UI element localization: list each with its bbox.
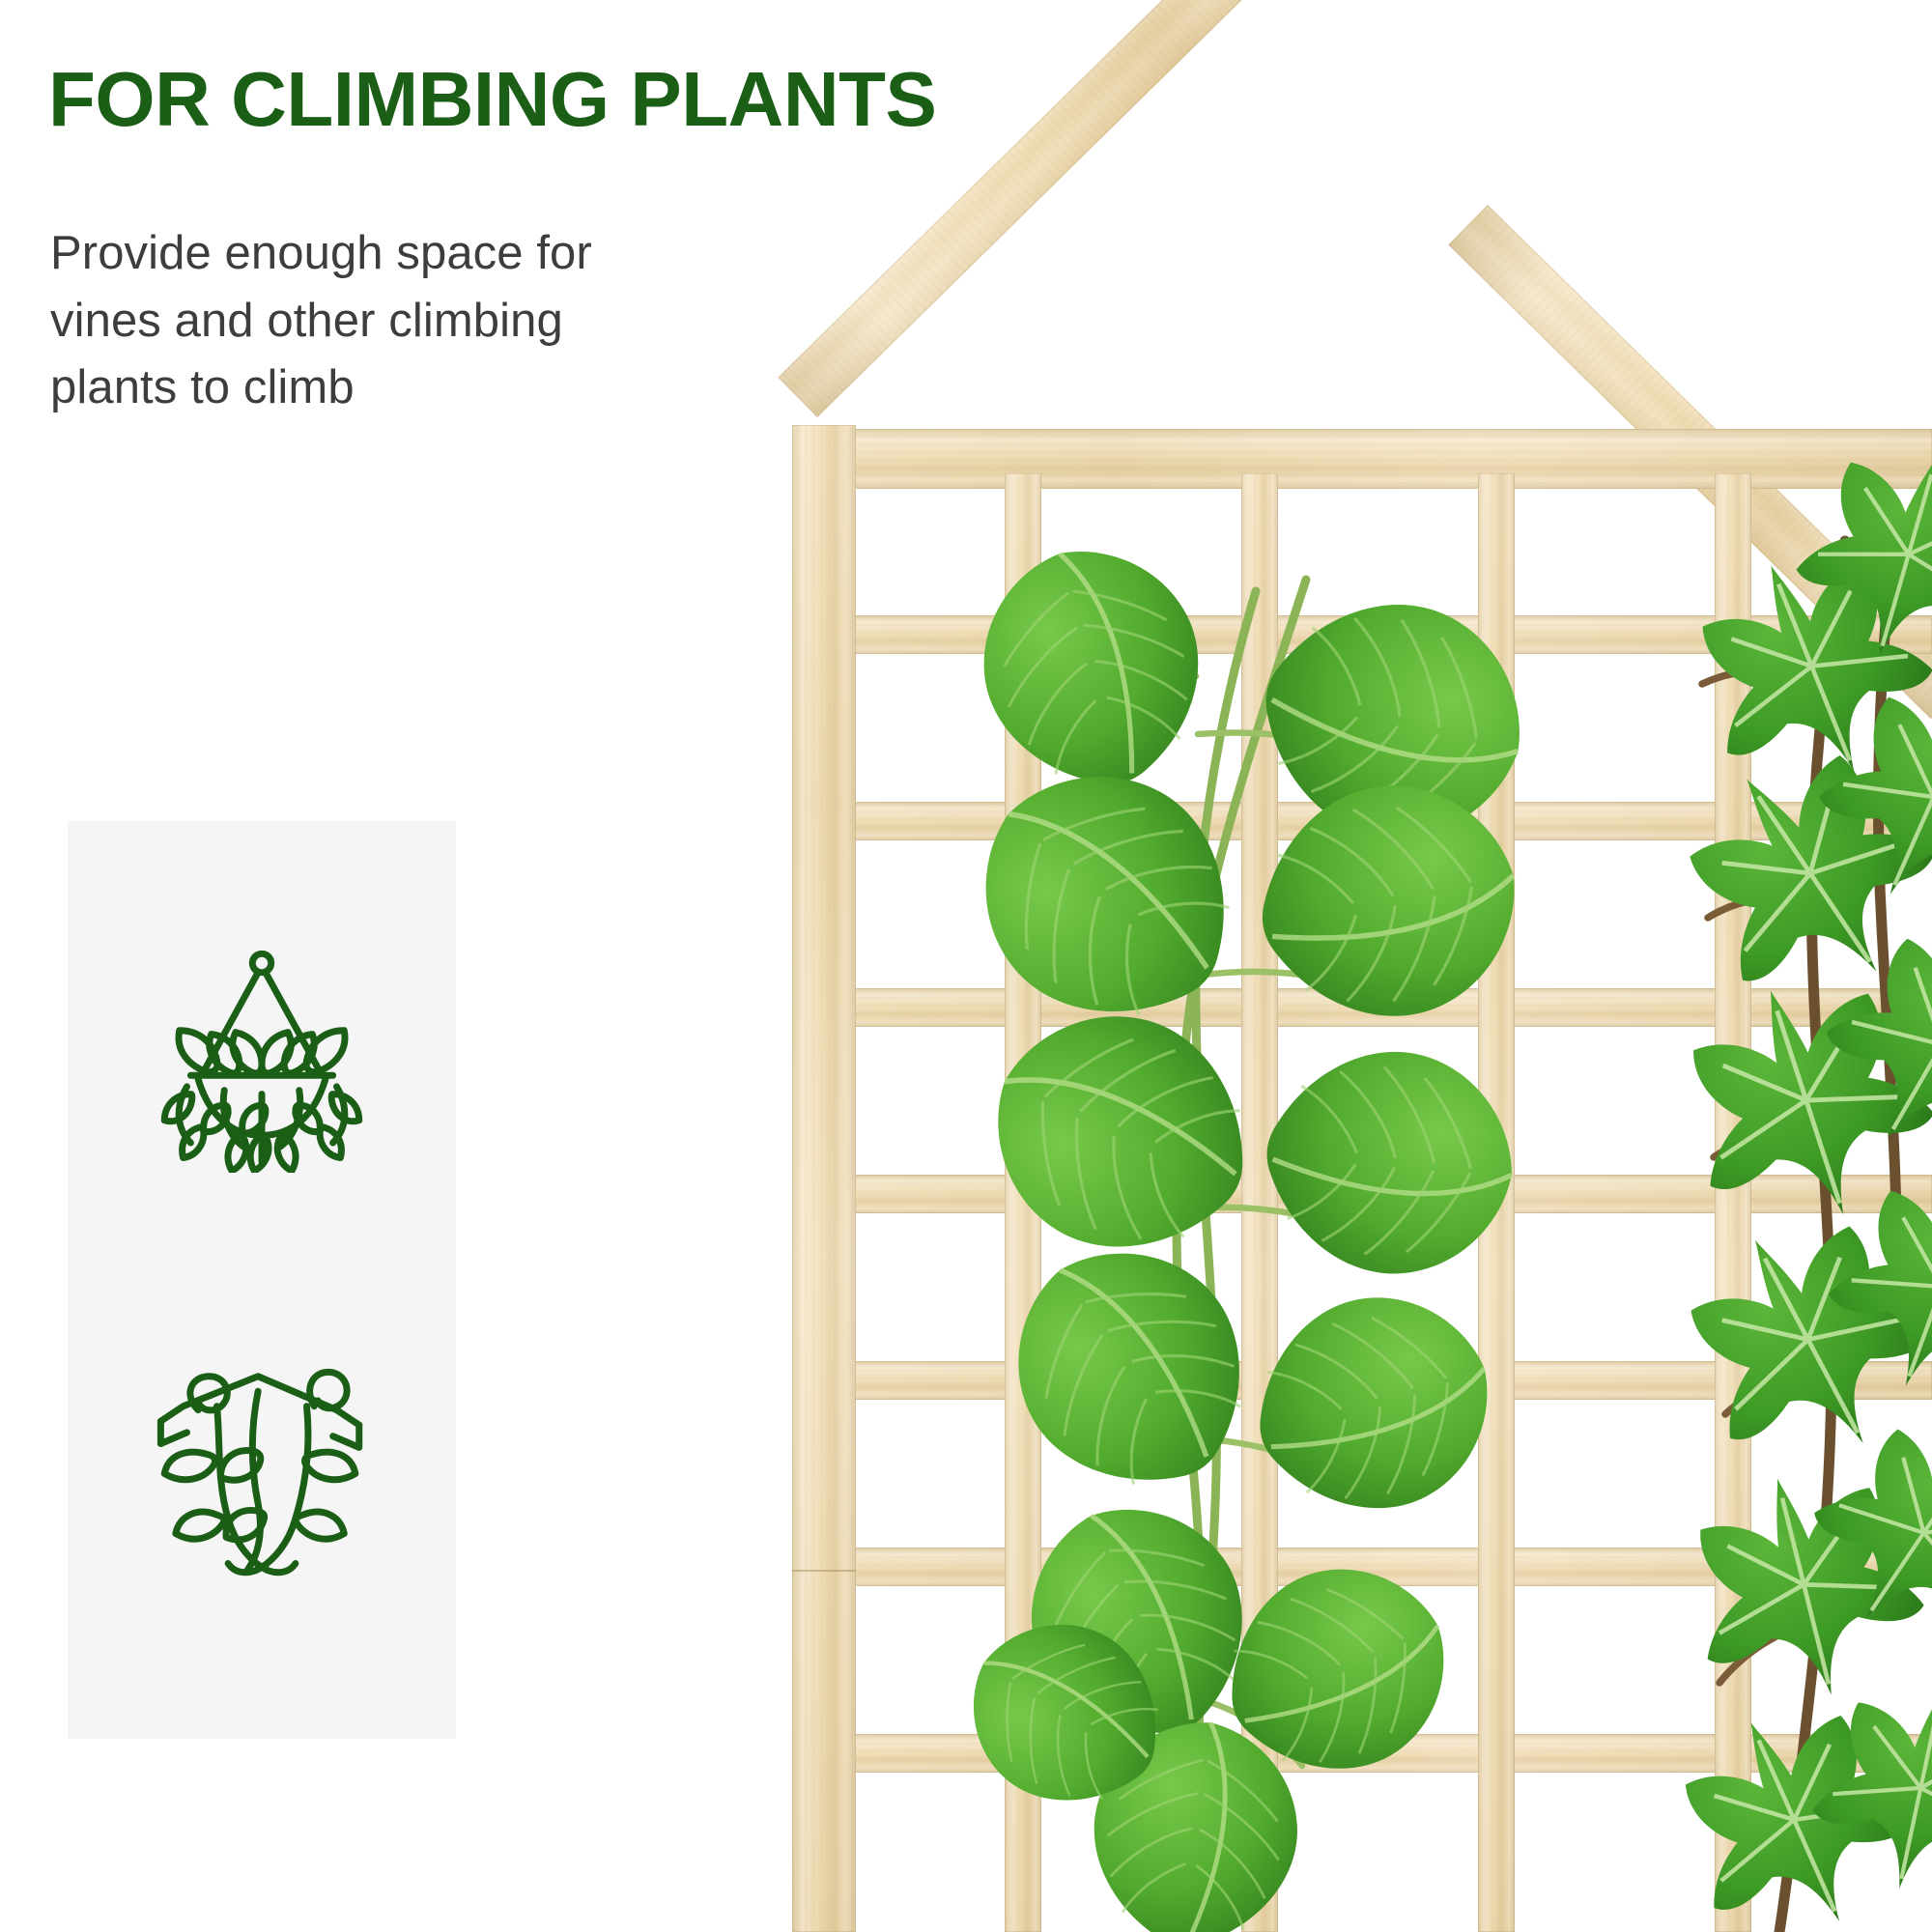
rail-4 <box>794 1175 1932 1213</box>
climbing-vine-icon <box>142 1339 382 1578</box>
subtitle-line-1: Provide enough space for <box>50 220 688 288</box>
feature-icon-panel <box>68 821 456 1739</box>
icon-slot-hanging-basket <box>68 869 456 1236</box>
page-title: FOR CLIMBING PLANTS <box>48 60 1256 139</box>
subtitle-line-3: plants to climb <box>50 355 688 422</box>
product-feature-image: FOR CLIMBING PLANTS Provide enough space… <box>0 0 1932 1932</box>
top-rail <box>794 429 1932 489</box>
rail-3 <box>794 988 1932 1027</box>
slat-2 <box>1241 473 1278 1932</box>
rail-6 <box>794 1548 1932 1586</box>
rail-1 <box>794 615 1932 654</box>
slat-4 <box>1715 473 1751 1932</box>
hanging-basket-plant-icon <box>142 933 382 1173</box>
icon-slot-climbing-vine <box>68 1275 456 1642</box>
slat-1 <box>1005 473 1041 1932</box>
left-post-joint <box>792 1570 856 1572</box>
subtitle-line-2: vines and other climbing <box>50 288 688 355</box>
rail-7 <box>794 1734 1932 1773</box>
rail-5 <box>794 1361 1932 1400</box>
left-post <box>792 425 856 1932</box>
rail-2 <box>794 802 1932 840</box>
slat-3 <box>1478 473 1515 1932</box>
subtitle-block: Provide enough space for vines and other… <box>50 220 688 422</box>
